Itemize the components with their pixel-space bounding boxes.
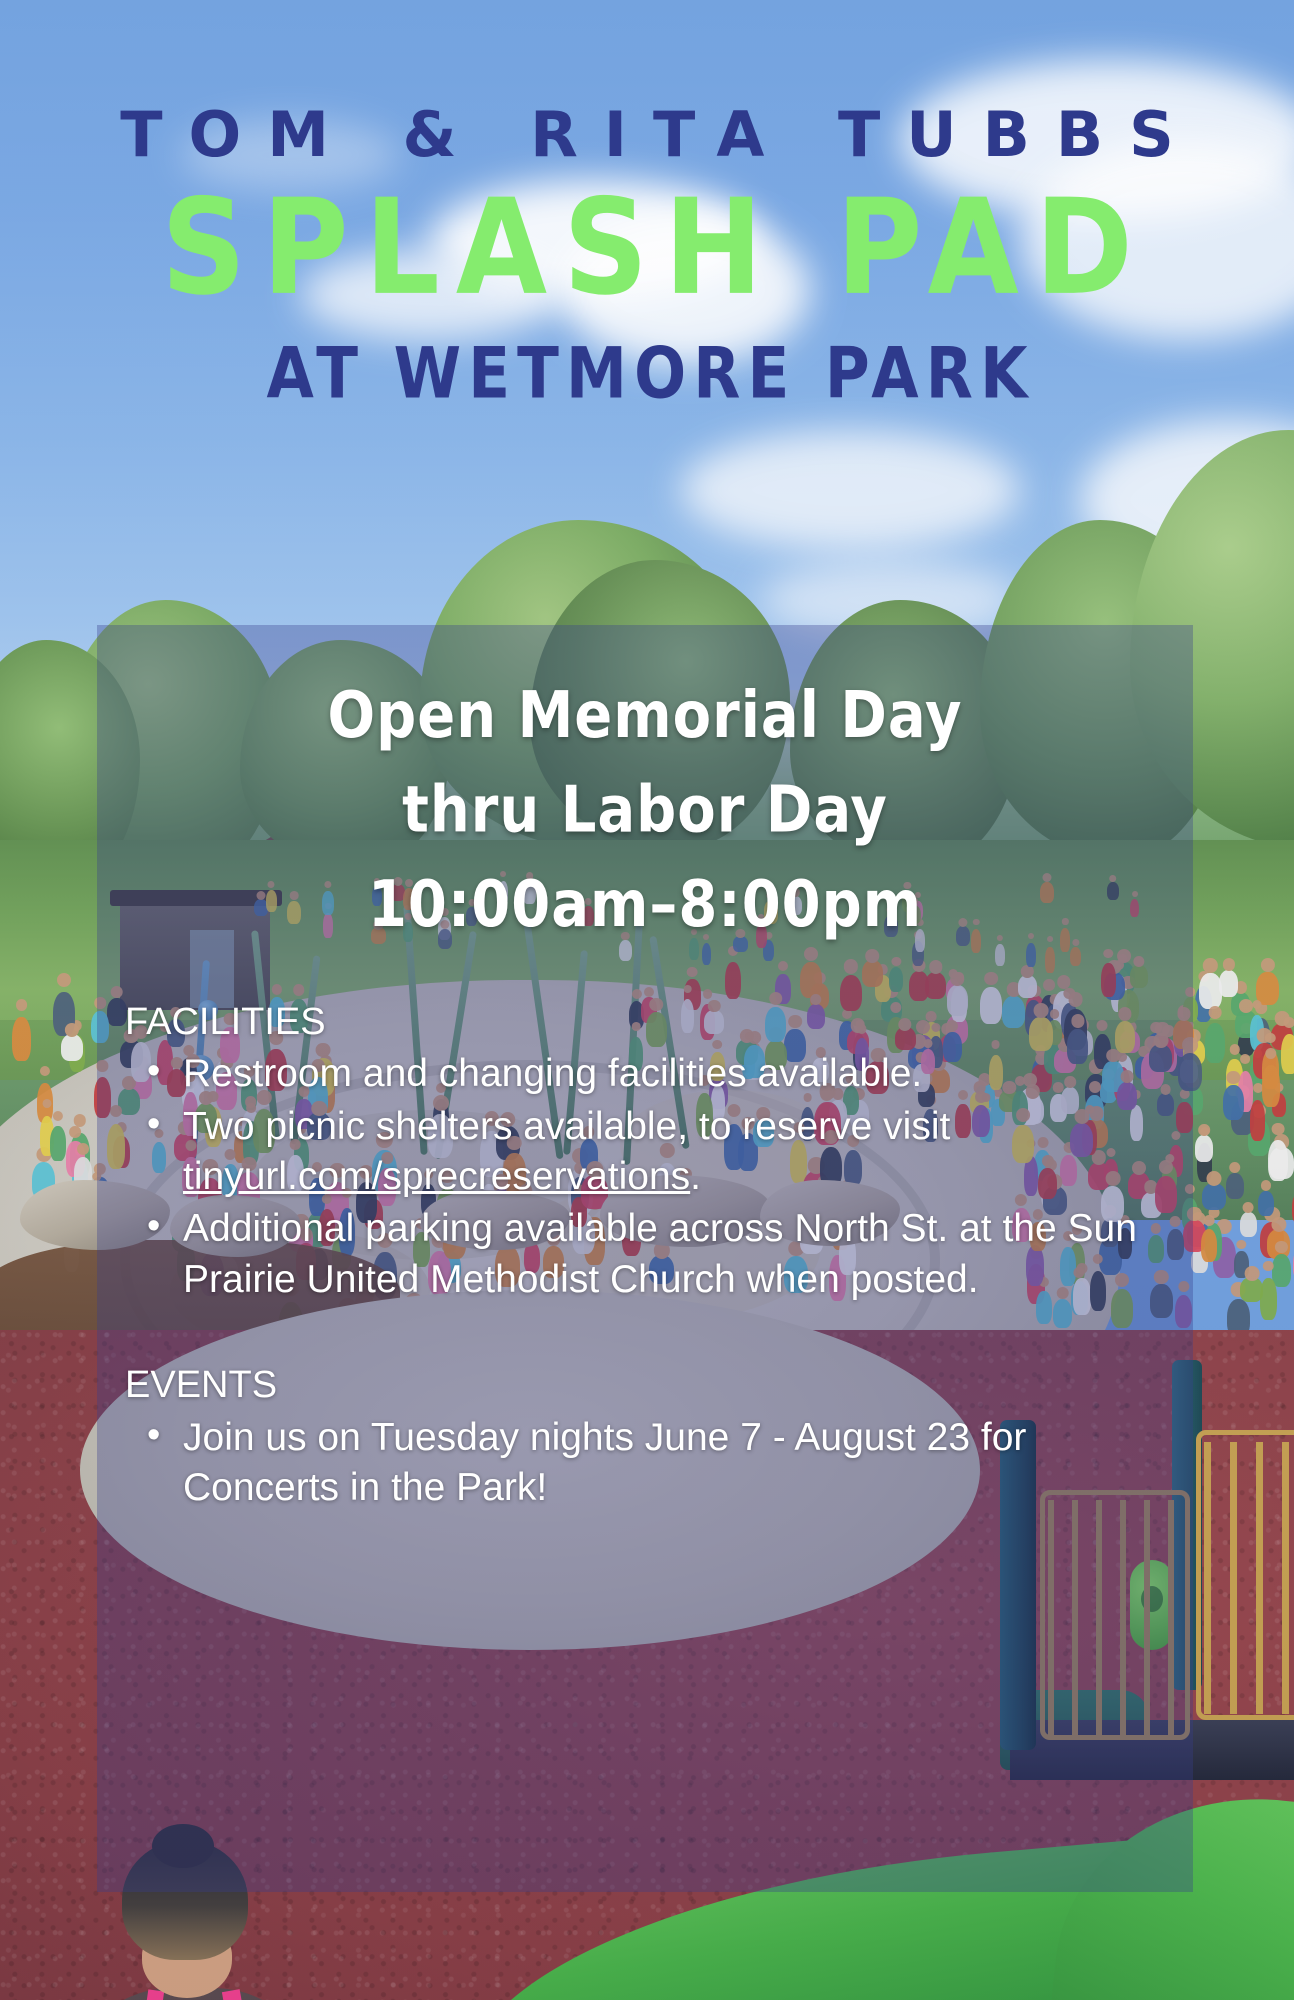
poster-headline: Tom & Rita Tubbs Splash Pad at Wetmore P… xyxy=(0,0,1294,404)
bullet-text: Two picnic shelters available, to reserv… xyxy=(183,1105,950,1148)
section-gap xyxy=(125,1307,1171,1365)
headline-line-1: Tom & Rita Tubbs xyxy=(0,104,1294,166)
bullet-text: Restroom and changing facilities availab… xyxy=(183,1052,922,1095)
section-bullet-list: Restroom and changing facilities availab… xyxy=(125,1049,1171,1304)
poster: Tom & Rita Tubbs Splash Pad at Wetmore P… xyxy=(0,0,1294,2000)
hours-line-3: 10:00am–8:00pm xyxy=(97,859,1193,953)
section-heading: EVENTS xyxy=(125,1365,1171,1407)
hours-block: Open Memorial Day thru Labor Day 10:00am… xyxy=(97,670,1193,953)
list-item: Two picnic shelters available, to reserv… xyxy=(183,1102,1171,1203)
list-item: Join us on Tuesday nights June 7 - Augus… xyxy=(183,1413,1171,1514)
bullet-text: Join us on Tuesday nights June 7 - Augus… xyxy=(183,1416,1026,1509)
hours-line-1: Open Memorial Day xyxy=(97,670,1193,764)
headline-line-2: Splash Pad xyxy=(0,181,1294,313)
reservation-link[interactable]: tinyurl.com/sprecreservations xyxy=(183,1155,690,1198)
info-sections: FACILITIESRestroom and changing faciliti… xyxy=(97,1002,1193,1514)
headline-line-3: at Wetmore Park xyxy=(0,339,1294,410)
section-heading: FACILITIES xyxy=(125,1002,1171,1044)
bullet-text: Additional parking available across Nort… xyxy=(183,1207,1137,1300)
section-bullet-list: Join us on Tuesday nights June 7 - Augus… xyxy=(125,1413,1171,1514)
list-item: Additional parking available across Nort… xyxy=(183,1204,1171,1305)
info-panel-content: Open Memorial Day thru Labor Day 10:00am… xyxy=(97,625,1193,1892)
hours-line-2: thru Labor Day xyxy=(97,764,1193,858)
bullet-text-tail: . xyxy=(690,1155,701,1198)
list-item: Restroom and changing facilities availab… xyxy=(183,1049,1171,1099)
